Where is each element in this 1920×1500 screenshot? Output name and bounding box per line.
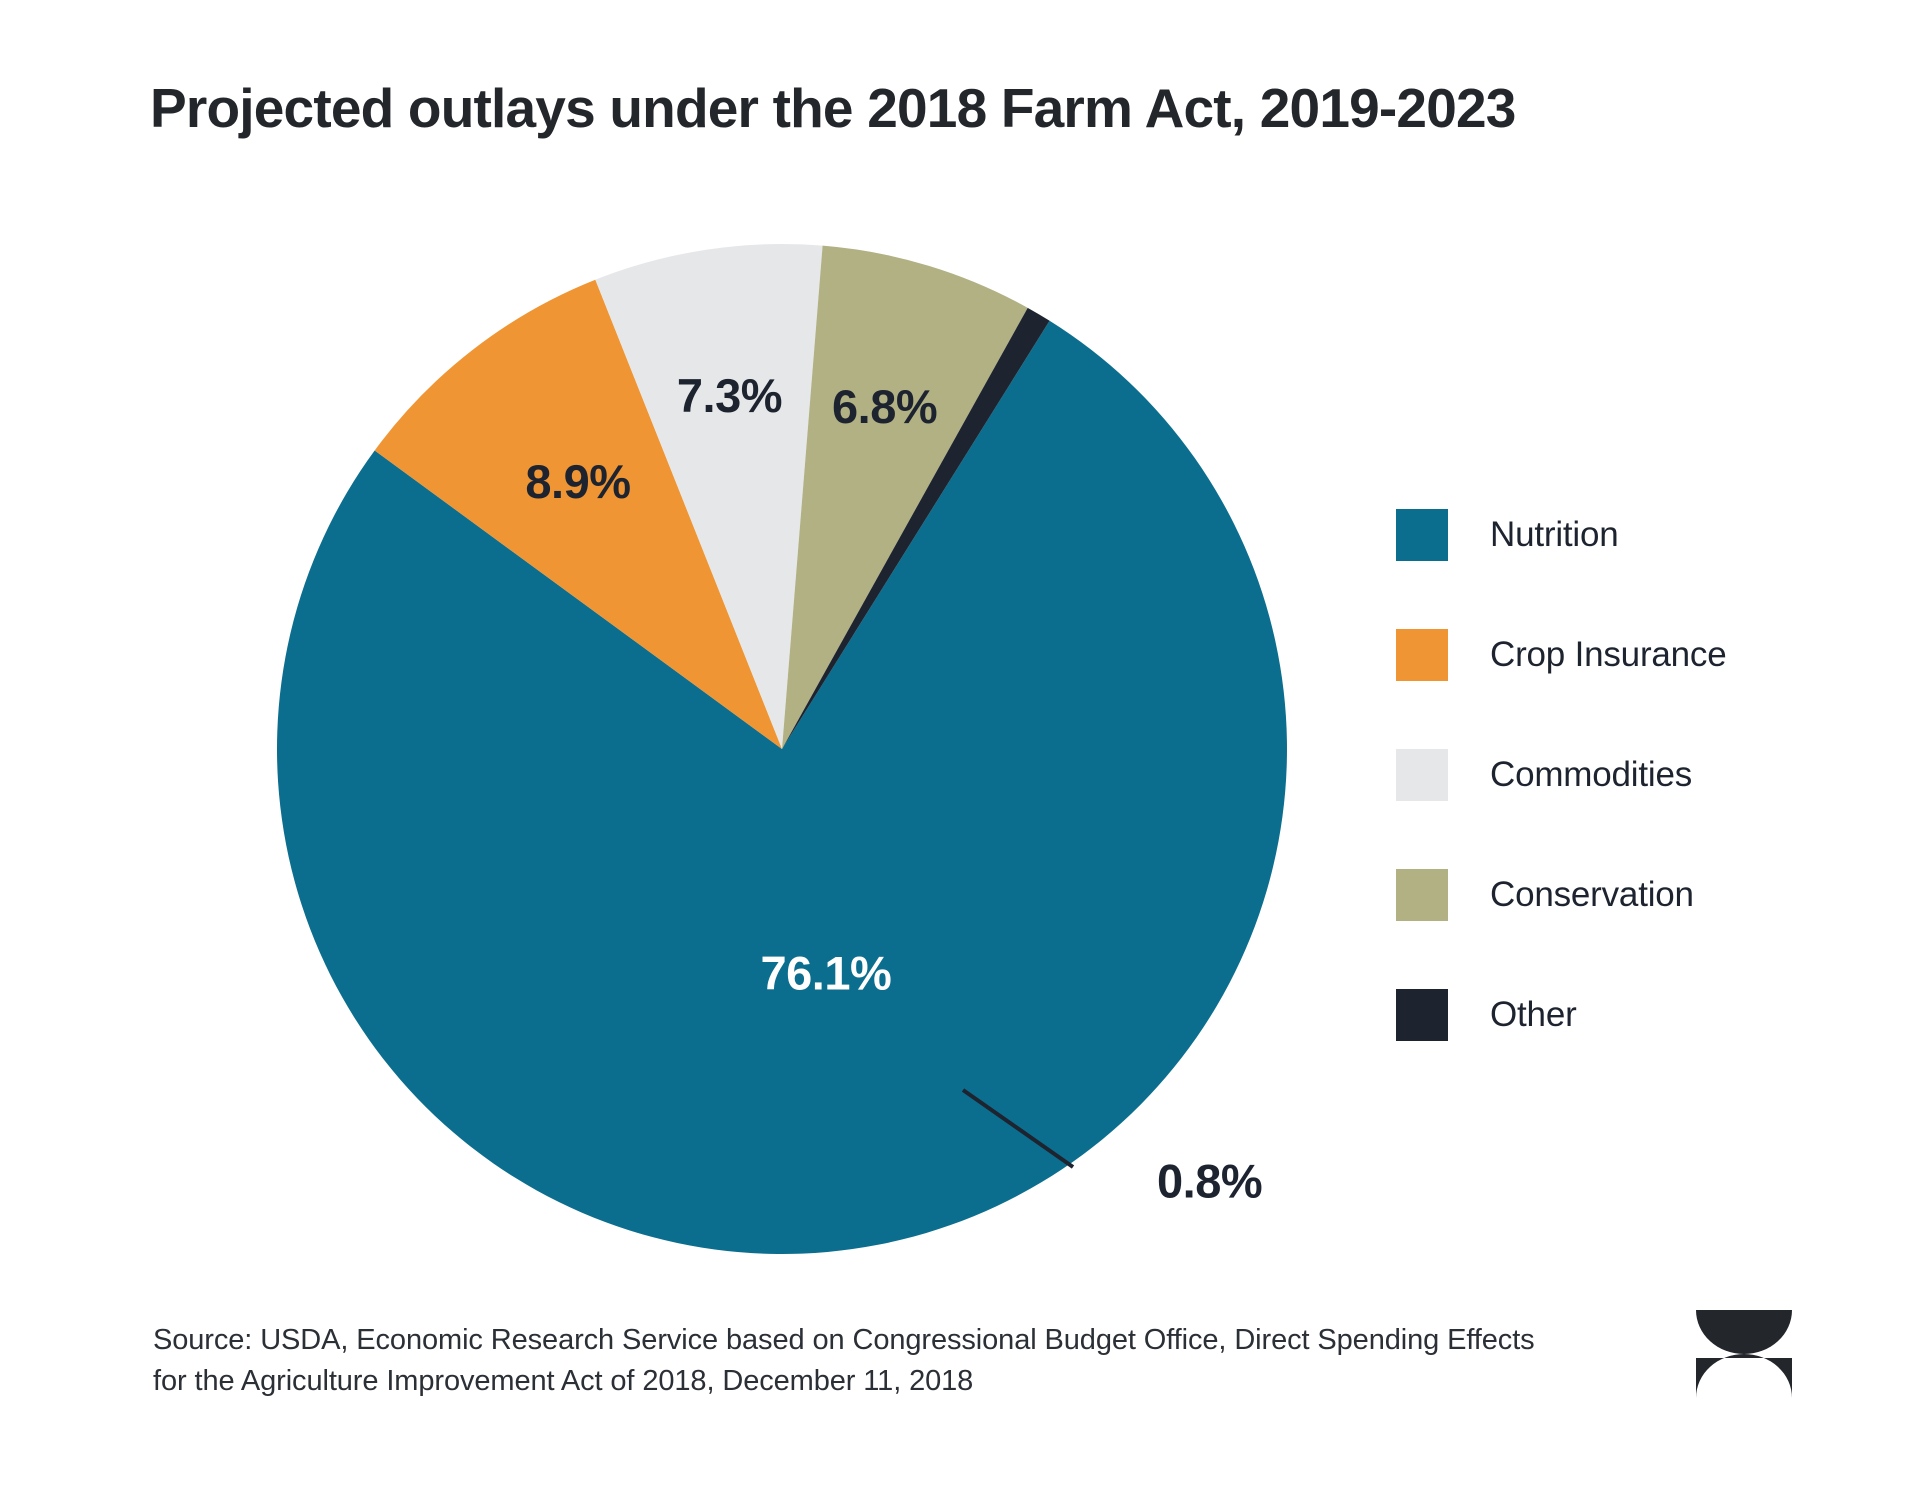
legend-swatch-crop-insurance <box>1396 629 1448 681</box>
legend-item-nutrition[interactable]: Nutrition <box>1396 475 1856 595</box>
legend-label-nutrition: Nutrition <box>1490 515 1619 555</box>
legend-item-conservation[interactable]: Conservation <box>1396 835 1856 955</box>
logo-upper-bowl <box>1696 1310 1792 1354</box>
legend-swatch-commodities <box>1396 749 1448 801</box>
legend-label-commodities: Commodities <box>1490 755 1692 795</box>
legend-item-commodities[interactable]: Commodities <box>1396 715 1856 835</box>
legend-item-other[interactable]: Other <box>1396 955 1856 1075</box>
legend-label-other: Other <box>1490 995 1577 1035</box>
chart-legend: Nutrition Crop Insurance Commodities Con… <box>1396 475 1856 1075</box>
legend-swatch-conservation <box>1396 869 1448 921</box>
legend-swatch-nutrition <box>1396 509 1448 561</box>
pie-chart: 76.1%8.9%7.3%6.8%0.8% <box>0 0 1400 1300</box>
logo-lower-arch <box>1696 1354 1792 1398</box>
pie-data-label-crop-insurance: 8.9% <box>525 455 630 508</box>
pie-data-label-commodities: 7.3% <box>677 369 782 422</box>
pie-chart-svg: 76.1%8.9%7.3%6.8%0.8% <box>0 0 1400 1300</box>
legend-item-crop-insurance[interactable]: Crop Insurance <box>1396 595 1856 715</box>
pie-data-label-nutrition: 76.1% <box>761 947 892 1000</box>
legend-swatch-other <box>1396 989 1448 1041</box>
chart-figure: Projected outlays under the 2018 Farm Ac… <box>0 0 1920 1500</box>
pie-data-label-other: 0.8% <box>1157 1154 1262 1207</box>
usda-ers-logo <box>1694 1308 1794 1400</box>
source-note: Source: USDA, Economic Research Service … <box>153 1320 1553 1402</box>
legend-label-conservation: Conservation <box>1490 875 1694 915</box>
legend-label-crop-insurance: Crop Insurance <box>1490 635 1727 675</box>
pie-data-label-conservation: 6.8% <box>832 380 937 433</box>
